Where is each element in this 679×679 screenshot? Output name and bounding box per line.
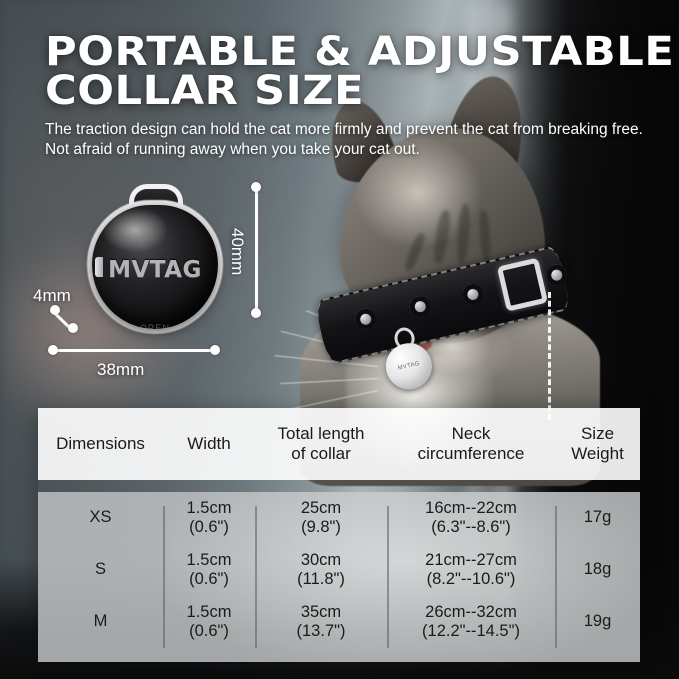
infographic-canvas: MVTAG PORTABLE & ADJUSTABLE COLLAR SIZE … (0, 0, 679, 679)
cell-width-in: (0.6") (163, 518, 255, 537)
table-header-total-length-line2: of collar (291, 444, 351, 463)
cell-length-cm: 30cm (301, 551, 341, 569)
table-header-dimensions: Dimensions (38, 434, 163, 454)
device-open-label: OPEN (92, 323, 218, 333)
table-header-size-line1: Size (581, 424, 614, 443)
device-brand-label: MVTAG (92, 257, 218, 283)
cell-width: 1.5cm (0.6") (163, 603, 255, 642)
width-dimension-line (52, 349, 218, 352)
thickness-dimension-label: 4mm (33, 286, 71, 306)
table-row: S 1.5cm (0.6") 30cm (11.8") 21cm--27cm (… (38, 544, 640, 596)
size-chart-table: Dimensions Width Total length of collar … (38, 408, 640, 650)
cell-length-in: (11.8") (255, 570, 387, 589)
cell-neck-cm: 26cm--32cm (425, 603, 517, 621)
cell-size: M (38, 612, 163, 631)
cell-neck-cm: 16cm--22cm (425, 499, 517, 517)
height-dimension-label: 40mm (227, 228, 247, 275)
cell-length-cm: 35cm (301, 603, 341, 621)
cell-width-in: (0.6") (163, 622, 255, 641)
cat-stripe (403, 232, 427, 273)
cell-length-cm: 25cm (301, 499, 341, 517)
cell-total-length: 35cm (13.7") (255, 603, 387, 642)
cell-neck-in: (6.3"--8.6") (387, 518, 555, 537)
cell-total-length: 25cm (9.8") (255, 499, 387, 538)
cell-width-cm: 1.5cm (187, 603, 232, 621)
width-dimension-dot-right (210, 345, 220, 355)
cell-length-in: (13.7") (255, 622, 387, 641)
thickness-dimension-dot-start (50, 305, 60, 315)
thickness-dimension-dot-end (68, 323, 78, 333)
table-header-size-weight: Size Weight (555, 424, 640, 464)
cell-weight: 18g (555, 560, 640, 579)
table-row: XS 1.5cm (0.6") 25cm (9.8") 16cm--22cm (… (38, 492, 640, 544)
height-dimension-line (255, 186, 258, 313)
cat-photo (300, 60, 600, 420)
cell-neck-in: (12.2"--14.5") (387, 622, 555, 641)
headline-line-2: COLLAR SIZE (45, 72, 679, 111)
cell-neck-circumference: 26cm--32cm (12.2"--14.5") (387, 603, 555, 642)
table-body: XS 1.5cm (0.6") 25cm (9.8") 16cm--22cm (… (38, 492, 640, 662)
cell-weight: 17g (555, 508, 640, 527)
width-dimension-label: 38mm (97, 360, 144, 380)
width-dimension-dot-left (48, 345, 58, 355)
cell-size: S (38, 560, 163, 579)
table-header-neck-line1: Neck (452, 424, 491, 443)
cell-width-cm: 1.5cm (187, 499, 232, 517)
table-header-width: Width (163, 434, 255, 454)
device-body: MVTAG OPEN (92, 205, 218, 329)
product-tracker-device: MVTAG OPEN (85, 186, 225, 336)
cell-weight: 19g (555, 612, 640, 631)
height-dimension-dot-bottom (251, 308, 261, 318)
cell-neck-in: (8.2"--10.6") (387, 570, 555, 589)
table-header-row: Dimensions Width Total length of collar … (38, 408, 640, 480)
table-header-total-length-line1: Total length (278, 424, 365, 443)
cell-neck-circumference: 21cm--27cm (8.2"--10.6") (387, 551, 555, 590)
cell-length-in: (9.8") (255, 518, 387, 537)
collar-guide-dashed-line (548, 292, 551, 420)
cell-size: XS (38, 508, 163, 527)
cat-stripe (432, 209, 452, 264)
cat-stripe (478, 210, 492, 263)
table-header-neck-line2: circumference (418, 444, 525, 463)
cell-neck-circumference: 16cm--22cm (6.3"--8.6") (387, 499, 555, 538)
cell-neck-cm: 21cm--27cm (425, 551, 517, 569)
cell-width-cm: 1.5cm (187, 551, 232, 569)
subtitle-text: The traction design can hold the cat mor… (45, 120, 645, 161)
cell-total-length: 30cm (11.8") (255, 551, 387, 590)
page-title: PORTABLE & ADJUSTABLE COLLAR SIZE (45, 33, 645, 111)
table-header-size-line2: Weight (571, 444, 624, 463)
cell-width: 1.5cm (0.6") (163, 499, 255, 538)
cat-stripe (456, 204, 471, 265)
cell-width: 1.5cm (0.6") (163, 551, 255, 590)
pendant-brand-label: MVTAG (397, 361, 420, 372)
cell-width-in: (0.6") (163, 570, 255, 589)
height-dimension-dot-top (251, 182, 261, 192)
table-header-neck-circumference: Neck circumference (387, 424, 555, 464)
table-header-total-length: Total length of collar (255, 424, 387, 464)
table-row: M 1.5cm (0.6") 35cm (13.7") 26cm--32cm (… (38, 596, 640, 648)
